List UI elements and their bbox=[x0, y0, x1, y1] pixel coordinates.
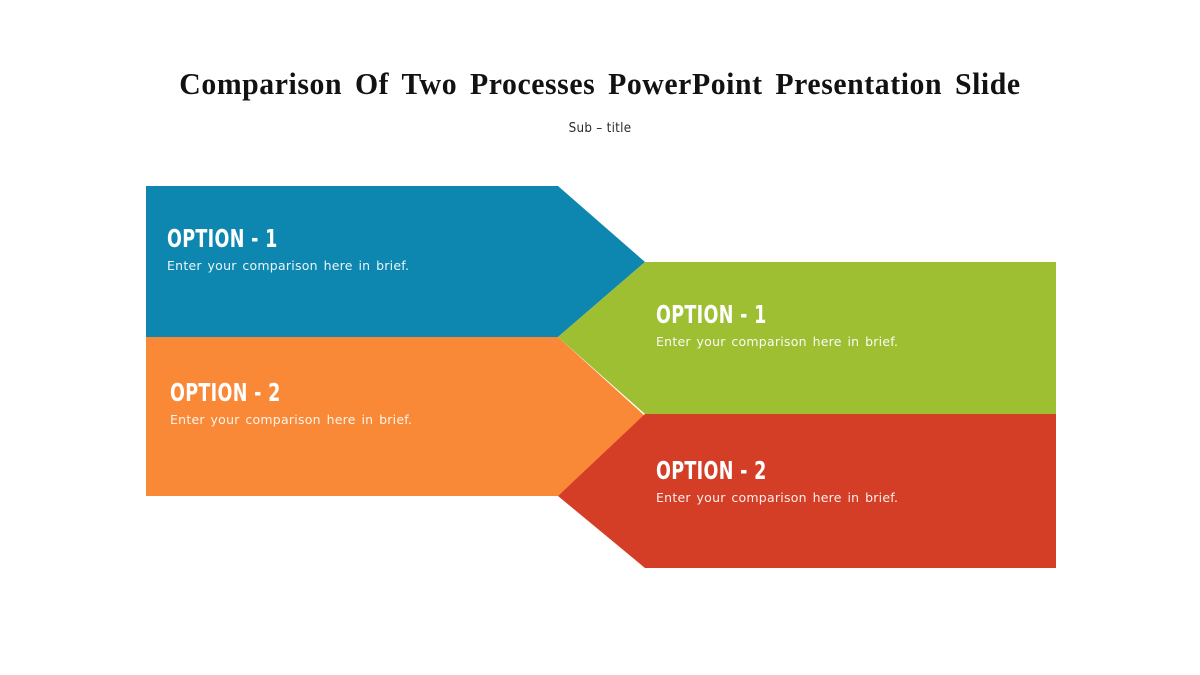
comparison-diagram bbox=[0, 0, 1200, 675]
block-description-orange: Enter your comparison here in brief. bbox=[170, 411, 412, 428]
block-description-green: Enter your comparison here in brief. bbox=[656, 333, 898, 350]
block-text-orange: OPTION - 2 Enter your comparison here in… bbox=[170, 380, 412, 428]
block-title-orange: OPTION - 2 bbox=[170, 380, 359, 406]
block-text-green: OPTION - 1 Enter your comparison here in… bbox=[656, 302, 898, 350]
presentation-slide: Comparison Of Two Processes PowerPoint P… bbox=[0, 0, 1200, 675]
block-title-red: OPTION - 2 bbox=[656, 458, 845, 484]
block-text-red: OPTION - 2 Enter your comparison here in… bbox=[656, 458, 898, 506]
block-description-red: Enter your comparison here in brief. bbox=[656, 489, 898, 506]
block-text-blue: OPTION - 1 Enter your comparison here in… bbox=[167, 226, 409, 274]
block-title-blue: OPTION - 1 bbox=[167, 226, 356, 252]
block-title-green: OPTION - 1 bbox=[656, 302, 845, 328]
block-description-blue: Enter your comparison here in brief. bbox=[167, 257, 409, 274]
